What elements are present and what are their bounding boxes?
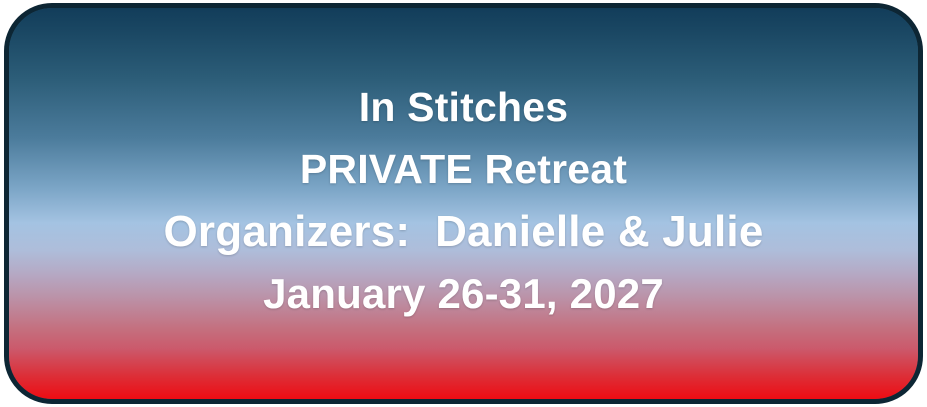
retreat-banner-card: In Stitches PRIVATE Retreat Organizers: …: [4, 3, 923, 404]
banner-title: In Stitches: [359, 87, 569, 128]
banner-subtitle: PRIVATE Retreat: [300, 149, 627, 190]
banner-organizers: Organizers: Danielle & Julie: [164, 210, 764, 254]
banner-text-block: In Stitches PRIVATE Retreat Organizers: …: [9, 8, 918, 399]
banner-dates: January 26-31, 2027: [263, 273, 664, 315]
banner-root: In Stitches PRIVATE Retreat Organizers: …: [0, 0, 927, 407]
